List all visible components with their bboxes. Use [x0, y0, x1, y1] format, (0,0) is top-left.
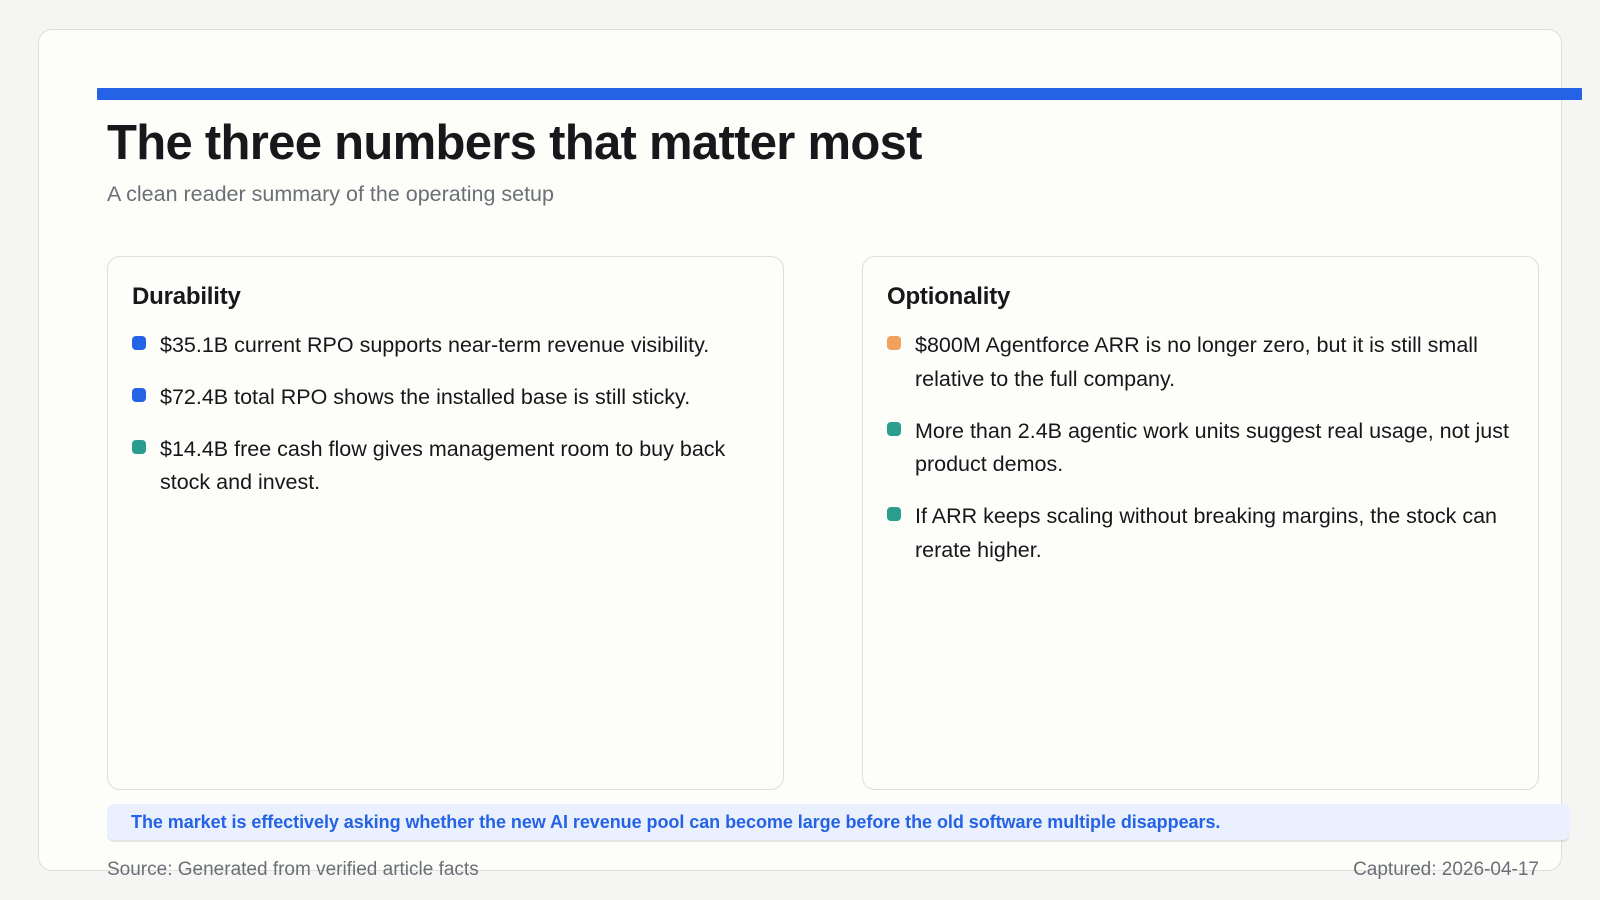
- bullet-text: $72.4B total RPO shows the installed bas…: [160, 381, 690, 415]
- captured-label: Captured: 2026-04-17: [1353, 859, 1539, 881]
- report-page: The three numbers that matter most A cle…: [0, 0, 1600, 900]
- list-item: $72.4B total RPO shows the installed bas…: [132, 381, 759, 415]
- report-header: The three numbers that matter most A cle…: [107, 116, 1527, 208]
- accent-bar: [97, 88, 1582, 100]
- bullet-marker-icon: [887, 507, 901, 521]
- source-label: Source: Generated from verified article …: [107, 859, 479, 881]
- list-item: $14.4B free cash flow gives management r…: [132, 433, 759, 501]
- bullet-marker-icon: [887, 422, 901, 436]
- bullet-text: $800M Agentforce ARR is no longer zero, …: [915, 329, 1514, 397]
- bullet-list: $35.1B current RPO supports near-term re…: [132, 329, 759, 500]
- list-item: More than 2.4B agentic work units sugges…: [887, 415, 1514, 483]
- bullet-text: If ARR keeps scaling without breaking ma…: [915, 500, 1514, 568]
- list-item: $35.1B current RPO supports near-term re…: [132, 329, 759, 363]
- report-frame: The three numbers that matter most A cle…: [38, 29, 1562, 871]
- report-footer: Source: Generated from verified article …: [107, 850, 1539, 890]
- bullet-text: $35.1B current RPO supports near-term re…: [160, 329, 709, 363]
- card-durability: Durability $35.1B current RPO supports n…: [107, 256, 784, 790]
- list-item: $800M Agentforce ARR is no longer zero, …: [887, 329, 1514, 397]
- bullet-list: $800M Agentforce ARR is no longer zero, …: [887, 329, 1514, 568]
- page-subtitle: A clean reader summary of the operating …: [107, 182, 1527, 208]
- bullet-marker-icon: [132, 440, 146, 454]
- card-title: Durability: [132, 283, 759, 311]
- list-item: If ARR keeps scaling without breaking ma…: [887, 500, 1514, 568]
- callout-banner: The market is effectively asking whether…: [107, 804, 1570, 840]
- bullet-marker-icon: [132, 336, 146, 350]
- bullet-marker-icon: [132, 388, 146, 402]
- cards-row: Durability $35.1B current RPO supports n…: [107, 256, 1540, 790]
- bullet-marker-icon: [887, 336, 901, 350]
- bullet-text: More than 2.4B agentic work units sugges…: [915, 415, 1514, 483]
- card-optionality: Optionality $800M Agentforce ARR is no l…: [862, 256, 1539, 790]
- card-title: Optionality: [887, 283, 1514, 311]
- page-title: The three numbers that matter most: [107, 116, 1527, 171]
- bullet-text: $14.4B free cash flow gives management r…: [160, 433, 759, 501]
- callout-text: The market is effectively asking whether…: [131, 812, 1220, 833]
